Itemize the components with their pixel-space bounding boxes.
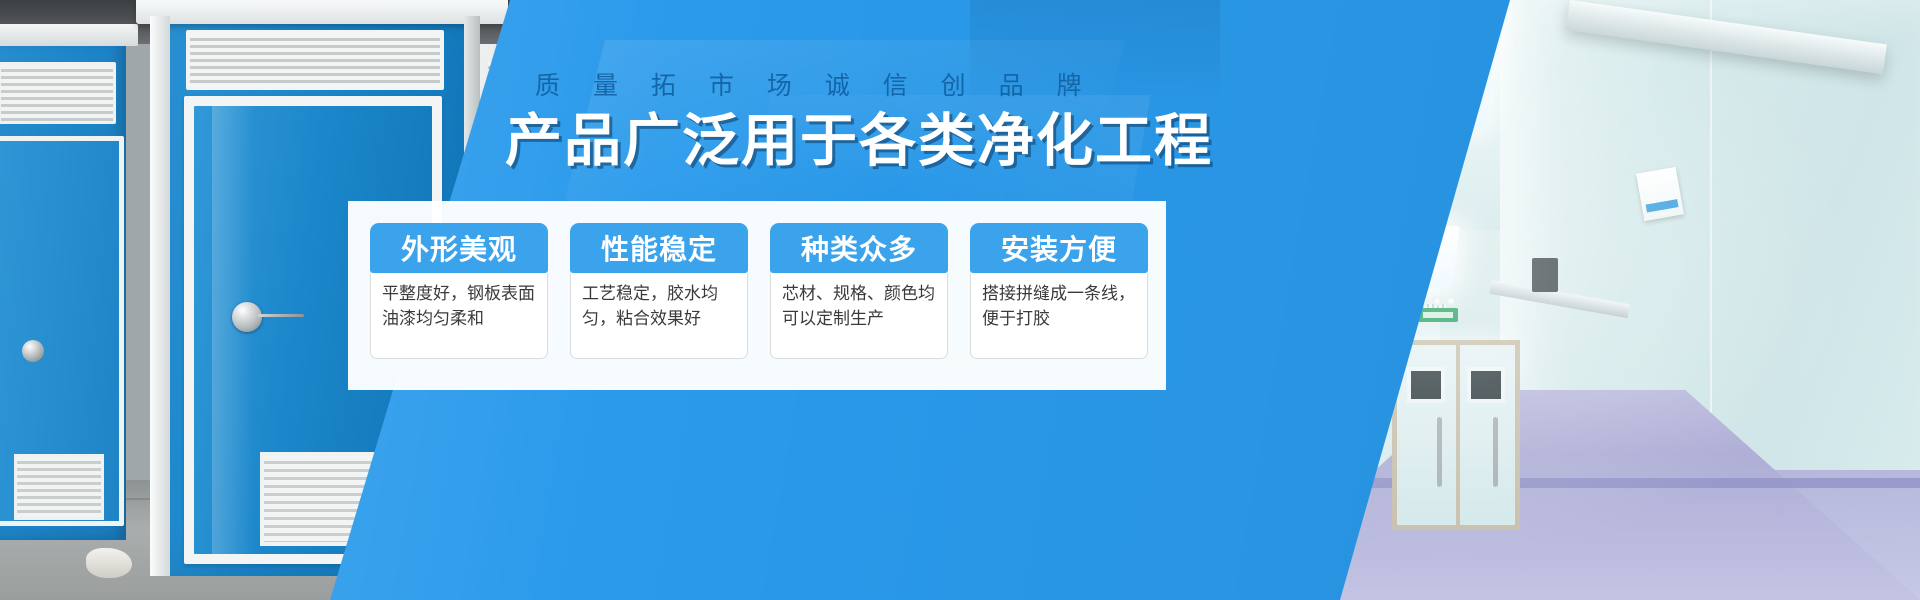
feature-card-description: 工艺稳定，胶水均匀，粘合效果好 xyxy=(570,273,748,359)
feature-card-title: 性能稳定 xyxy=(570,223,748,273)
cabin-louver-vent xyxy=(0,62,116,124)
feature-card-title: 安装方便 xyxy=(970,223,1148,273)
ground-debris xyxy=(86,548,132,578)
banner-headline: 产品广泛用于各类净化工程 xyxy=(505,112,1213,172)
cabin-door-knob-icon xyxy=(232,302,262,332)
feature-cards-row: 外形美观 平整度好，钢板表面油漆均匀柔和 性能稳定 工艺稳定，胶水均匀，粘合效果… xyxy=(370,223,1148,359)
feature-card-description: 搭接拼缝成一条线，便于打胶 xyxy=(970,273,1148,359)
promo-banner: 质 量 拓 市 场 诚 信 创 品 牌 产品广泛用于各类净化工程 外形美观 平整… xyxy=(0,0,1920,600)
feature-card-title: 种类众多 xyxy=(770,223,948,273)
banner-tagline: 质 量 拓 市 场 诚 信 创 品 牌 xyxy=(535,74,1095,99)
feature-card[interactable]: 安装方便 搭接拼缝成一条线，便于打胶 xyxy=(970,223,1148,359)
cabin-roof xyxy=(0,24,138,46)
cabin-door-knob-icon xyxy=(22,340,44,362)
cabin-lower-vent xyxy=(14,454,104,520)
feature-card[interactable]: 外形美观 平整度好，钢板表面油漆均匀柔和 xyxy=(370,223,548,359)
cabin-left xyxy=(0,40,126,540)
feature-cards-panel: 外形美观 平整度好，钢板表面油漆均匀柔和 性能稳定 工艺稳定，胶水均匀，粘合效果… xyxy=(348,201,1166,390)
feature-card[interactable]: 性能稳定 工艺稳定，胶水均匀，粘合效果好 xyxy=(570,223,748,359)
feature-card-description: 平整度好，钢板表面油漆均匀柔和 xyxy=(370,273,548,359)
cabin-corner-post-left xyxy=(150,16,170,576)
feature-card[interactable]: 种类众多 芯材、规格、颜色均可以定制生产 xyxy=(770,223,948,359)
feature-card-title: 外形美观 xyxy=(370,223,548,273)
feature-card-description: 芯材、规格、颜色均可以定制生产 xyxy=(770,273,948,359)
cabin-louver-vent xyxy=(186,30,444,90)
cabin-roof xyxy=(136,0,508,24)
